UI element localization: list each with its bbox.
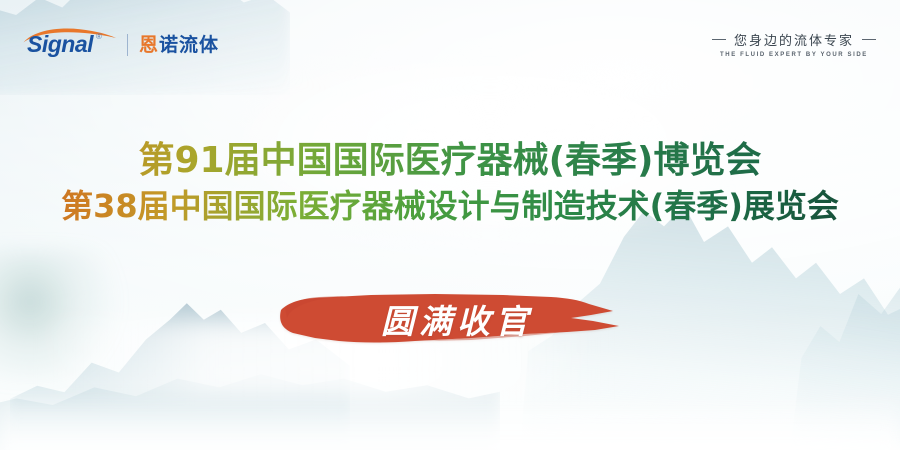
tagline-english: THE FLUID EXPERT BY YOUR SIDE (712, 52, 876, 58)
event-titles: 第91届中国国际医疗器械(春季)博览会 第38届中国国际医疗器械设计与制造技术(… (0, 140, 900, 225)
tagline-rule-left (712, 39, 726, 40)
logo-mark: Signal® (22, 28, 118, 62)
logo-divider (127, 34, 128, 56)
logo-chinese-rest: 诺流体 (159, 34, 219, 56)
mist-overlay-bottom (0, 400, 900, 450)
tagline-chinese-row: 您身边的流体专家 (712, 30, 876, 49)
brand-tagline: 您身边的流体专家 THE FLUID EXPERT BY YOUR SIDE (712, 30, 876, 58)
logo-chinese-accent: 恩 (139, 34, 159, 56)
logo-chinese-name: 恩诺流体 (139, 36, 219, 55)
tagline-chinese: 您身边的流体专家 (734, 30, 854, 49)
event-title-primary: 第91届中国国际医疗器械(春季)博览会 (0, 140, 900, 182)
brand-logo[interactable]: Signal® 恩诺流体 (22, 28, 219, 62)
tagline-rule-right (862, 39, 876, 40)
event-recap-banner: Signal® 恩诺流体 您身边的流体专家 THE FLUID EXPERT B… (0, 0, 900, 450)
brush-banner: 圆满收官 (275, 288, 625, 350)
brush-banner-text: 圆满收官 (275, 288, 625, 350)
registered-trademark-icon: ® (96, 32, 101, 41)
logo-wordmark: Signal® (27, 33, 101, 56)
event-title-secondary: 第38届中国国际医疗器械设计与制造技术(春季)展览会 (0, 188, 900, 225)
